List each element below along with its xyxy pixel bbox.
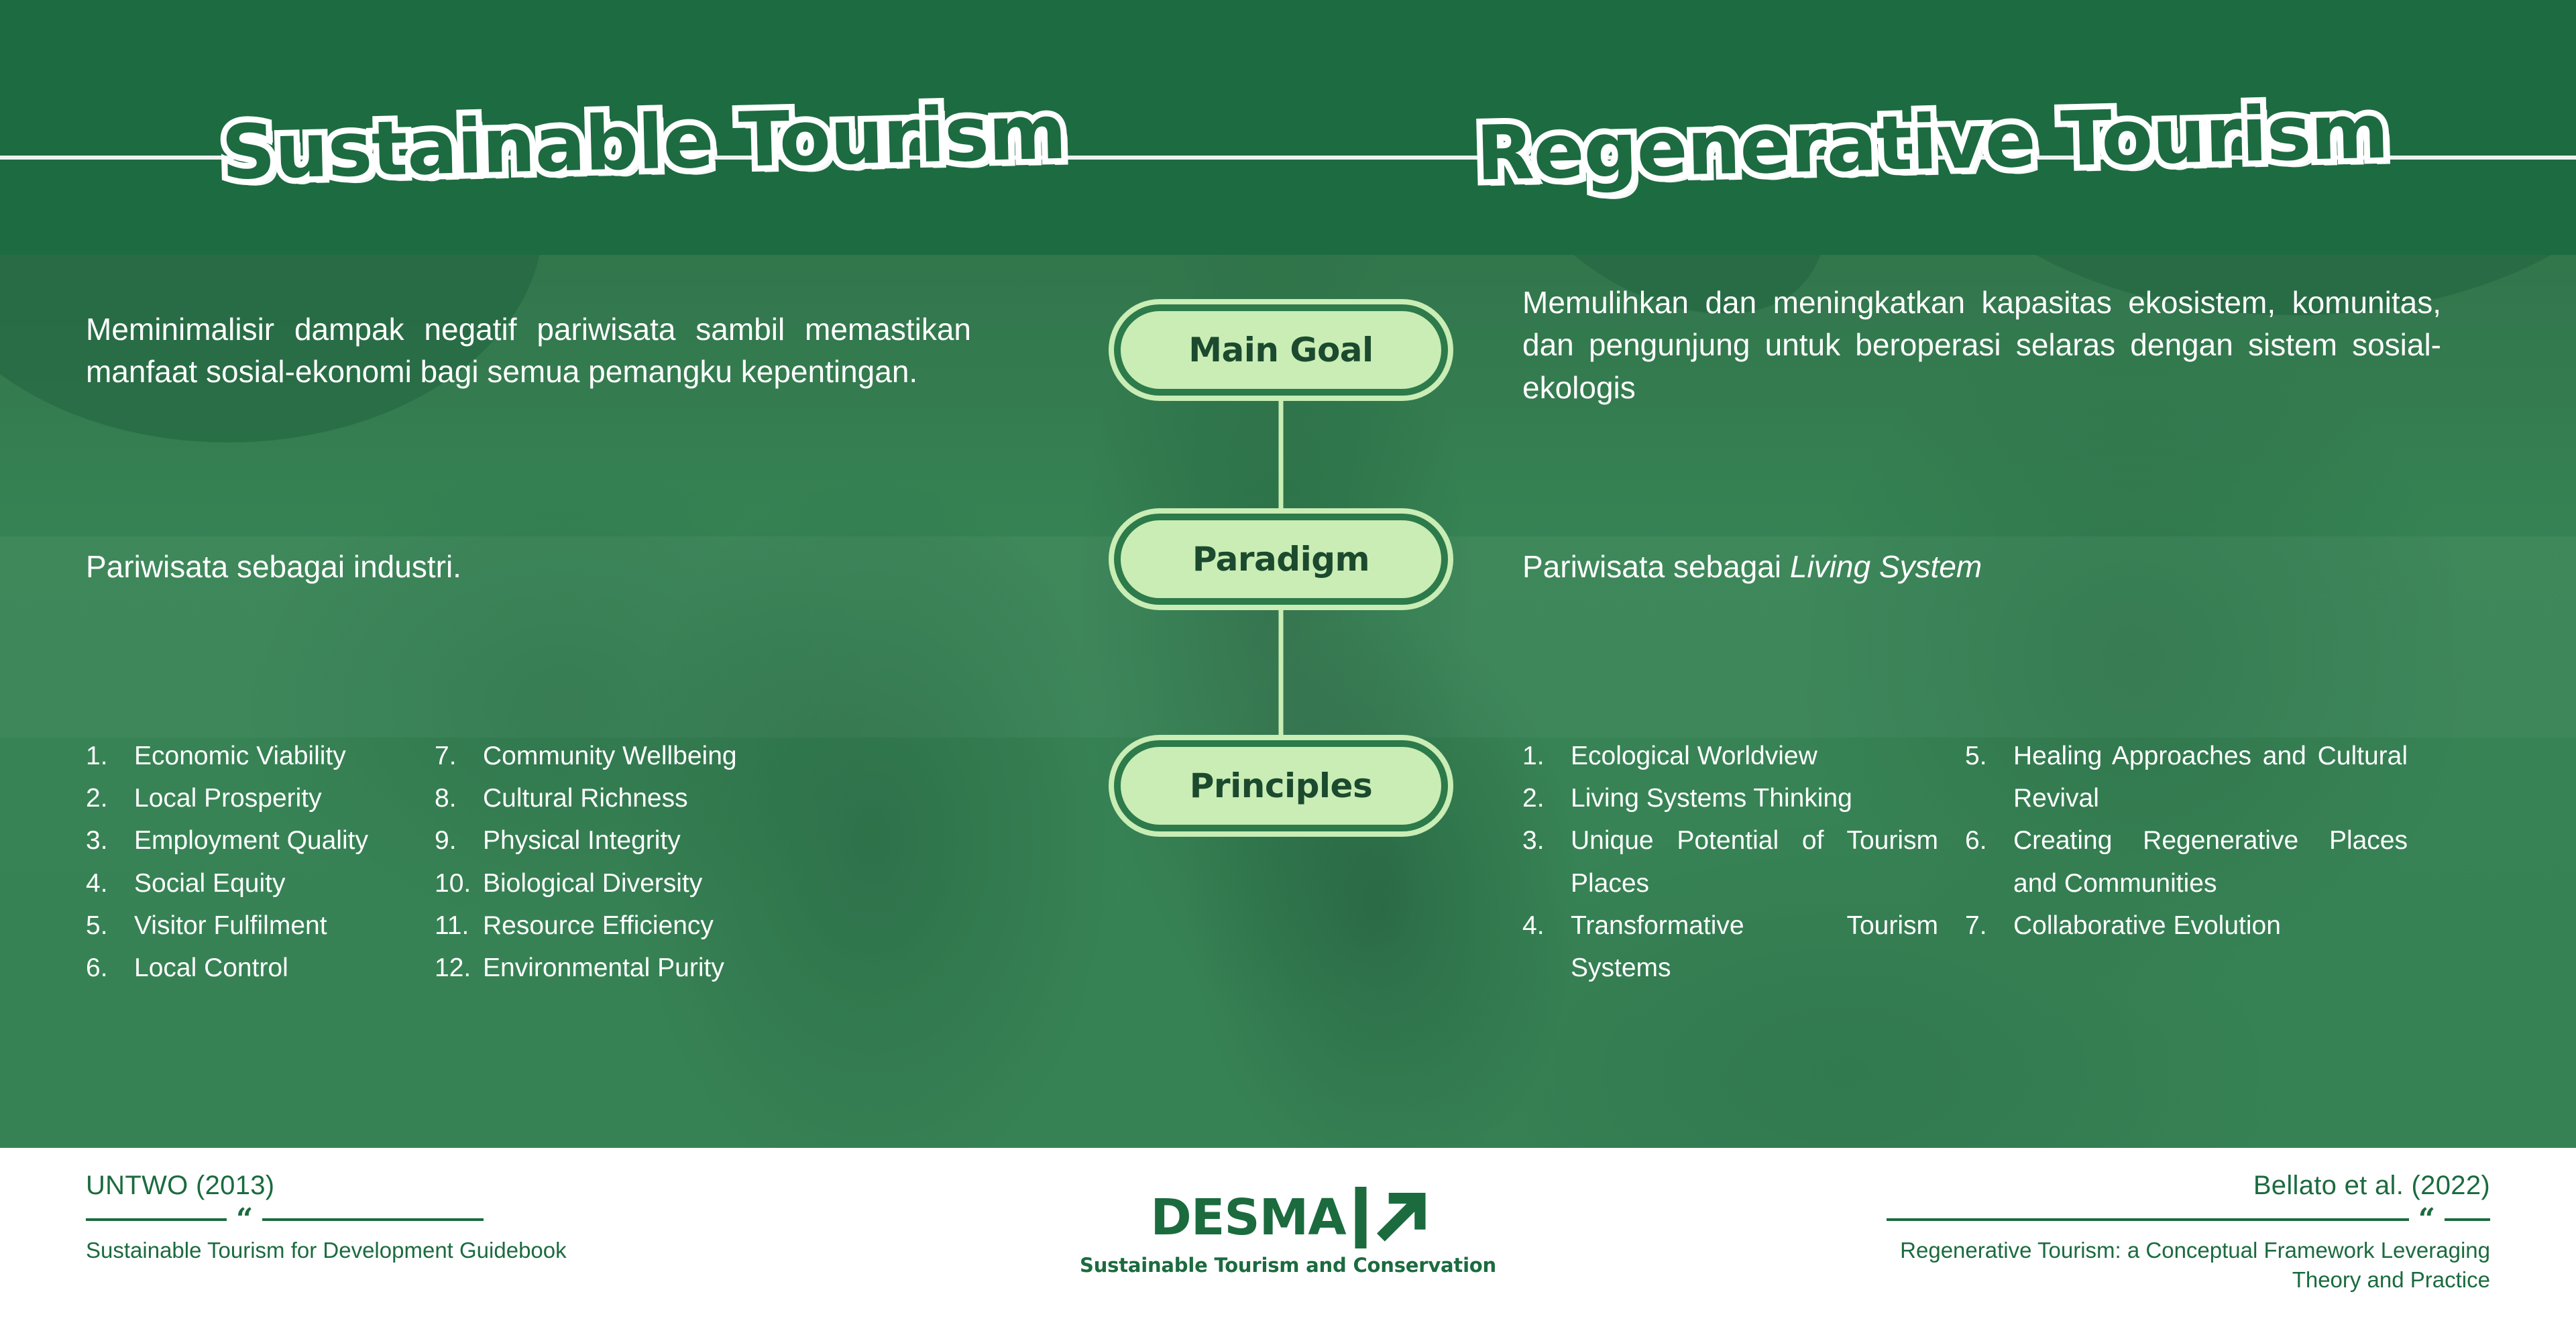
left-citation-title: Sustainable Tourism for Development Guid… (86, 1236, 596, 1265)
left-citation-source: UNTWO (2013) (86, 1171, 596, 1201)
connector-line-2 (1279, 602, 1284, 750)
list-item: 7.Community Wellbeing (435, 735, 757, 777)
list-number: 4. (1522, 904, 1571, 947)
logo-wordmark: DESMA (1150, 1189, 1345, 1246)
list-item: 5.Healing Approaches and Cultural Reviva… (1965, 735, 2408, 819)
node-principles[interactable]: Principles (1121, 747, 1441, 825)
node-paradigm-label: Paradigm (1192, 540, 1369, 579)
left-principles-column-a: 1.Economic Viability 2.Local Prosperity … (86, 735, 374, 989)
list-item: 7.Collaborative Evolution (1965, 904, 2408, 947)
list-item: 6.Creating Regenerative Places and Commu… (1965, 819, 2408, 904)
list-item: 1.Economic Viability (86, 735, 374, 777)
list-item: 12.Environmental Purity (435, 947, 757, 989)
list-label: Biological Diversity (483, 862, 757, 904)
list-label: Community Wellbeing (483, 735, 757, 777)
list-number: 7. (1965, 904, 2013, 947)
list-label: Creating Regenerative Places and Communi… (2013, 819, 2408, 904)
list-item: 10.Biological Diversity (435, 862, 757, 904)
list-item: 9.Physical Integrity (435, 819, 757, 862)
divider-rule (2445, 1218, 2490, 1221)
left-citation-divider: “ (86, 1212, 596, 1228)
left-principles-lists: 1.Economic Viability 2.Local Prosperity … (86, 735, 1025, 989)
title-row: Sustainable Tourism Regenerative Tourism (0, 79, 2576, 207)
list-item: 8.Cultural Richness (435, 777, 757, 819)
list-label: Ecological Worldview (1571, 735, 1938, 777)
list-item: 3.Unique Potential of Tourism Places (1522, 819, 1938, 904)
infographic-poster: Sustainable Tourism Regenerative Tourism… (0, 0, 2576, 1343)
list-label: Transformative Tourism Systems (1571, 904, 1938, 989)
right-principles-lists: 1.Ecological Worldview 2.Living Systems … (1522, 735, 2495, 989)
right-column-title: Regenerative Tourism (1475, 88, 2389, 197)
right-paradigm-text: Pariwisata sebagai Living System (1522, 548, 1982, 585)
desma-logo: DESMA Sustainable Tourism and Conservati… (1080, 1187, 1496, 1277)
logo-row: DESMA (1080, 1187, 1496, 1248)
list-item: 4.Transformative Tourism Systems (1522, 904, 1938, 989)
list-label: Economic Viability (134, 735, 374, 777)
list-label: Local Control (134, 947, 374, 989)
list-item: 11.Resource Efficiency (435, 904, 757, 947)
footer: UNTWO (2013) “ Sustainable Tourism for D… (0, 1148, 2576, 1343)
right-citation-title: Regenerative Tourism: a Conceptual Frame… (1887, 1236, 2490, 1294)
list-label: Physical Integrity (483, 819, 757, 862)
list-label: Local Prosperity (134, 777, 374, 819)
left-title-wrap: Sustainable Tourism (0, 79, 1288, 207)
node-main-goal-label: Main Goal (1188, 331, 1373, 369)
list-number: 4. (86, 862, 134, 904)
list-label: Social Equity (134, 862, 374, 904)
list-label: Unique Potential of Tourism Places (1571, 819, 1938, 904)
list-number: 3. (1522, 819, 1571, 862)
right-citation: Bellato et al. (2022) “ Regenerative Tou… (1887, 1171, 2490, 1294)
list-label: Collaborative Evolution (2013, 904, 2408, 947)
logo-divider-bar (1355, 1187, 1367, 1248)
list-number: 1. (86, 735, 134, 777)
list-label: Cultural Richness (483, 777, 757, 819)
content-area: Meminimalisir dampak negatif pariwisata … (0, 255, 2576, 1147)
list-number: 2. (1522, 777, 1571, 819)
list-item: 2.Local Prosperity (86, 777, 374, 819)
list-label: Resource Efficiency (483, 904, 757, 947)
left-column-title: Sustainable Tourism (221, 89, 1067, 197)
list-number: 5. (86, 904, 134, 947)
center-node-column: Main Goal Paradigm Principles (1080, 255, 1482, 1147)
list-number: 7. (435, 735, 483, 777)
quote-icon: “ (2418, 1212, 2435, 1228)
list-number: 6. (86, 947, 134, 989)
list-number: 6. (1965, 819, 2013, 862)
node-paradigm[interactable]: Paradigm (1121, 520, 1441, 598)
right-principles-column-b: 5.Healing Approaches and Cultural Reviva… (1965, 735, 2408, 989)
list-item: 2.Living Systems Thinking (1522, 777, 1938, 819)
right-citation-source: Bellato et al. (2022) (1887, 1171, 2490, 1201)
list-label: Environmental Purity (483, 947, 757, 989)
right-paradigm-emphasis: Living System (1790, 549, 1982, 584)
list-number: 3. (86, 819, 134, 862)
left-paradigm-text: Pariwisata sebagai industri. (86, 548, 461, 585)
right-paradigm-prefix: Pariwisata sebagai (1522, 549, 1790, 584)
arrow-up-right-icon (1376, 1193, 1426, 1242)
list-label: Healing Approaches and Cultural Revival (2013, 735, 2408, 819)
list-item: 6.Local Control (86, 947, 374, 989)
divider-rule (1887, 1218, 2409, 1221)
list-number: 9. (435, 819, 483, 862)
right-principles-column-a: 1.Ecological Worldview 2.Living Systems … (1522, 735, 1938, 989)
list-label: Visitor Fulfilment (134, 904, 374, 947)
left-main-goal-text: Meminimalisir dampak negatif pariwisata … (86, 308, 971, 394)
list-number: 5. (1965, 735, 2013, 777)
divider-rule (262, 1218, 484, 1221)
divider-rule (86, 1218, 227, 1221)
list-label: Living Systems Thinking (1571, 777, 1938, 819)
list-number: 11. (435, 904, 483, 947)
node-principles-label: Principles (1190, 766, 1372, 805)
right-citation-divider: “ (1887, 1212, 2490, 1228)
list-number: 1. (1522, 735, 1571, 777)
list-number: 8. (435, 777, 483, 819)
list-number: 10. (435, 862, 483, 904)
list-number: 12. (435, 947, 483, 989)
right-main-goal-text: Memulihkan dan meningkatkan kapasitas ek… (1522, 282, 2441, 409)
list-number: 2. (86, 777, 134, 819)
list-item: 5.Visitor Fulfilment (86, 904, 374, 947)
node-main-goal[interactable]: Main Goal (1121, 311, 1441, 389)
list-item: 4.Social Equity (86, 862, 374, 904)
left-citation: UNTWO (2013) “ Sustainable Tourism for D… (86, 1171, 596, 1265)
list-item: 1.Ecological Worldview (1522, 735, 1938, 777)
quote-icon: “ (236, 1212, 253, 1228)
list-item: 3.Employment Quality (86, 819, 374, 862)
list-label: Employment Quality (134, 819, 374, 862)
logo-tagline: Sustainable Tourism and Conservation (1080, 1254, 1496, 1277)
right-title-wrap: Regenerative Tourism (1288, 79, 2576, 207)
left-principles-column-b: 7.Community Wellbeing 8.Cultural Richnes… (435, 735, 757, 989)
connector-line-1 (1279, 393, 1284, 523)
